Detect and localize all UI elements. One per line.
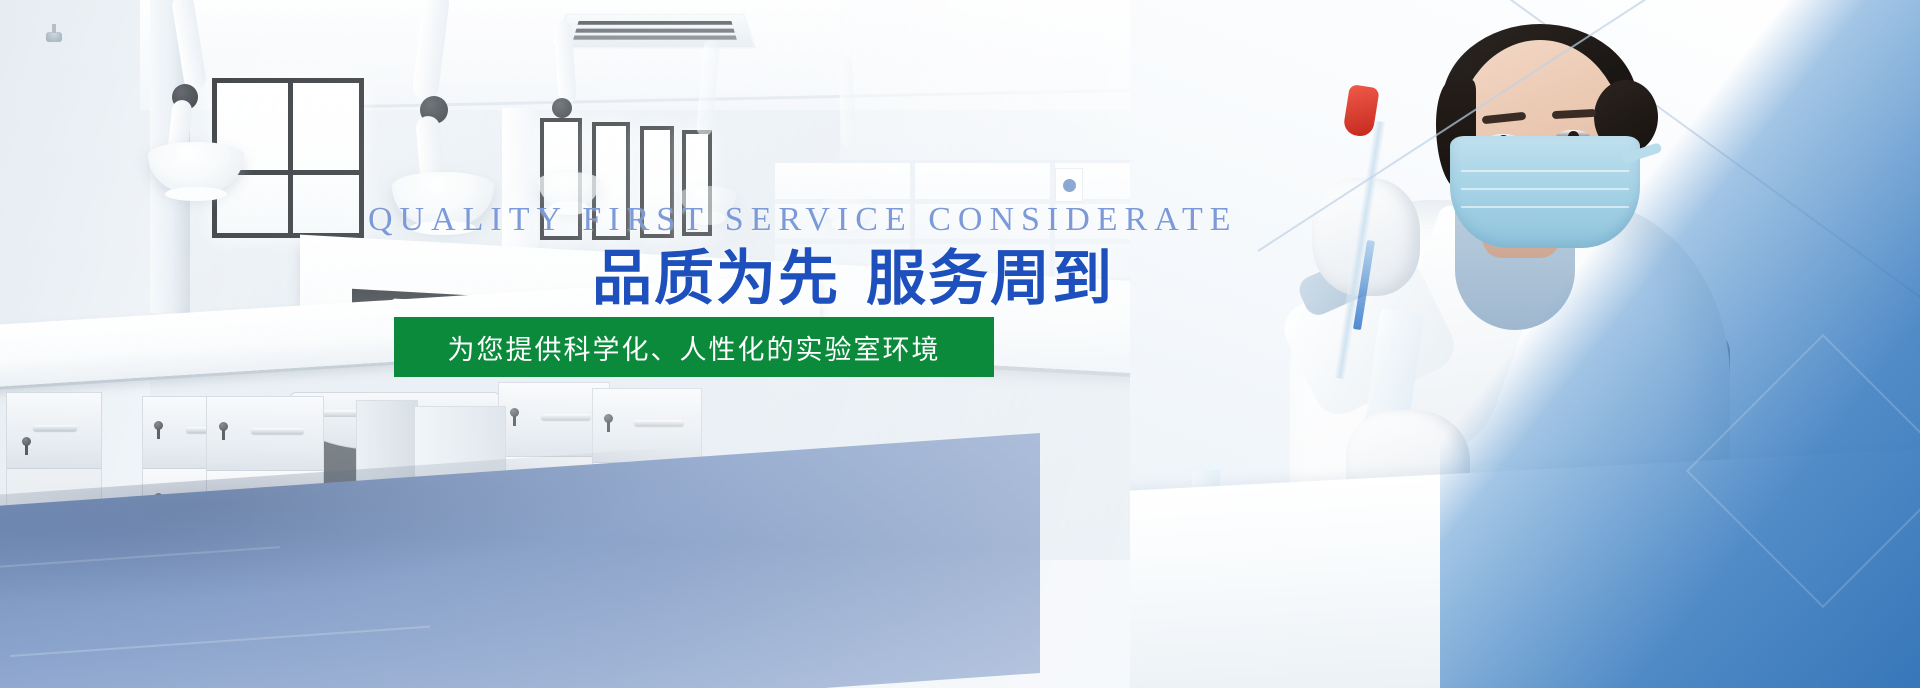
shelf-sign-icon	[1055, 168, 1083, 202]
fume-arm-joint-3	[552, 98, 572, 118]
headline-part-2: 服务周到	[866, 245, 1114, 312]
hero-banner: QUALITY FIRST SERVICE CONSIDERATE 品质为先服务…	[0, 0, 1920, 688]
headline-part-1: 品质为先	[592, 245, 840, 312]
banner-eyebrow: QUALITY FIRST SERVICE CONSIDERATE	[368, 203, 1238, 237]
banner-subtitle: 为您提供科学化、人性化的实验室环境	[448, 328, 941, 367]
banner-subtitle-bar: 为您提供科学化、人性化的实验室环境	[394, 317, 994, 377]
blue-gradient-overlay	[1440, 0, 1920, 688]
banner-headline: 品质为先服务周到	[592, 247, 1114, 310]
sprinkler-head-icon	[46, 32, 62, 42]
ceiling-ac-vent	[553, 14, 756, 49]
